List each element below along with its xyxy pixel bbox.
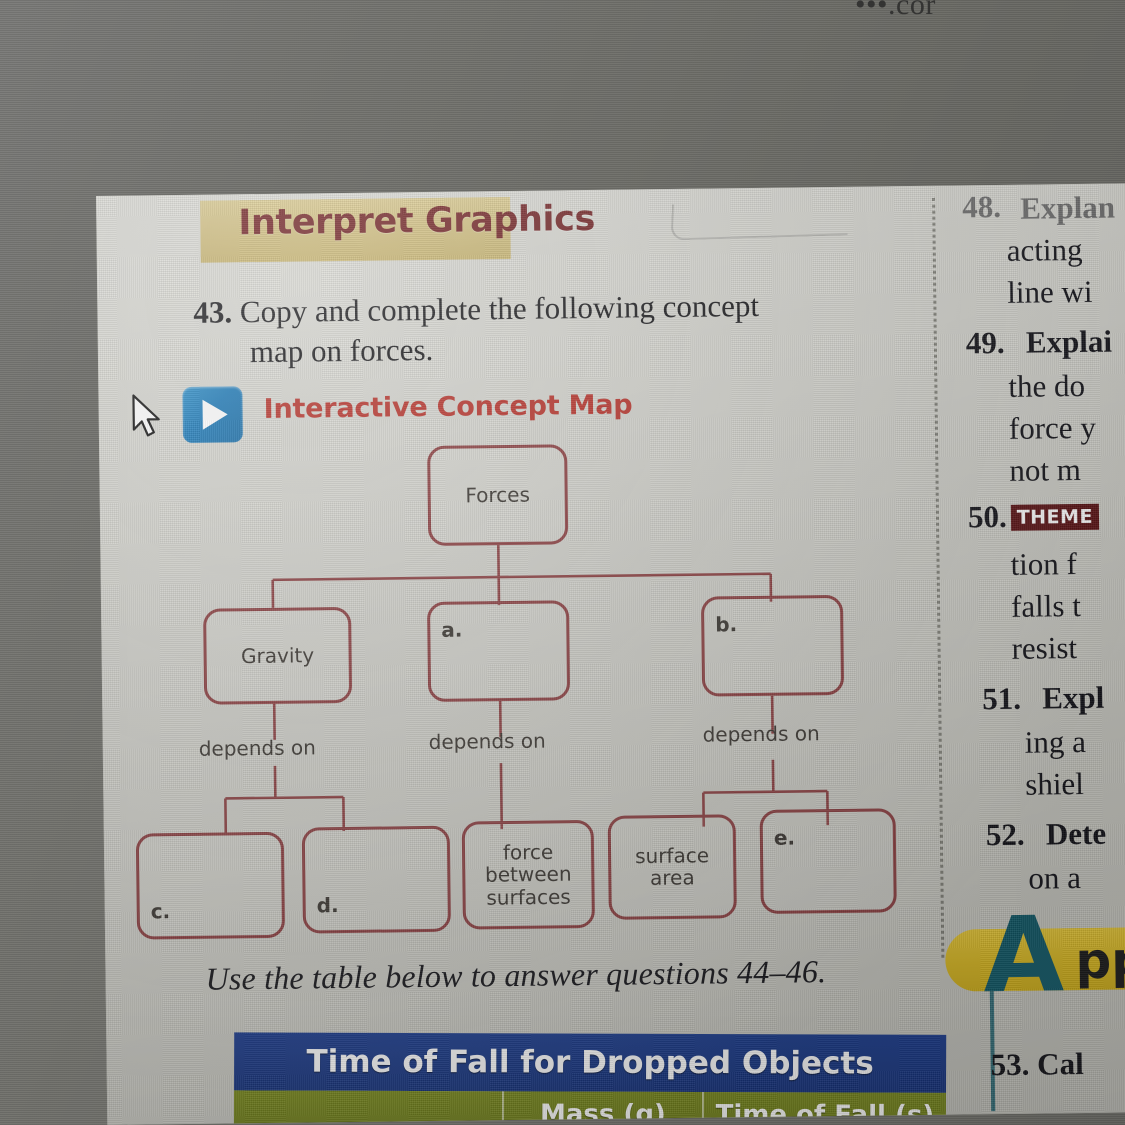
- apply-banner-text: pp: [1075, 935, 1125, 986]
- question-50-number: 50.: [968, 499, 1007, 534]
- question-53-head: Cal: [1037, 1046, 1084, 1082]
- theme-badge: THEME: [1011, 504, 1100, 531]
- question-43-number: 43.: [193, 294, 232, 329]
- question-49-number: 49.: [966, 327, 1005, 358]
- question-43-line2: map on forces.: [250, 325, 834, 372]
- question-43: 43. Copy and complete the following conc…: [193, 285, 834, 372]
- concept-node-e[interactable]: e.: [760, 808, 897, 914]
- play-triangle-icon: [202, 399, 227, 429]
- question-48-head: Explan: [1020, 192, 1115, 224]
- question-50-line-3: falls t: [1011, 590, 1081, 622]
- table-intro-text: Use the table below to answer questions …: [205, 952, 905, 998]
- question-53-number: 53.: [990, 1047, 1029, 1082]
- question-51-line-3: shiel: [1025, 768, 1084, 800]
- question-52-number: 52.: [986, 819, 1025, 850]
- question-51-head: Expl: [1042, 682, 1104, 714]
- section-heading: Interpret Graphics: [238, 199, 595, 243]
- interactive-concept-map-link[interactable]: Interactive Concept Map: [263, 389, 632, 425]
- concept-node-forces[interactable]: Forces: [427, 444, 568, 546]
- question-48-line-3: line wi: [1007, 276, 1093, 308]
- question-43-line1: Copy and complete the following concept: [240, 288, 760, 329]
- table-title: Time of Fall for Dropped Objects: [234, 1032, 946, 1092]
- right-column: 48. Explan acting line wi 49. Explai the…: [958, 183, 1125, 1114]
- question-53-row: 53. Cal: [990, 1046, 1083, 1083]
- apply-letter-a: A: [983, 902, 1061, 1007]
- concept-node-surface-area[interactable]: surface area: [608, 814, 737, 920]
- question-50-row: 50.THEME: [968, 500, 1099, 533]
- question-52-line-2: on a: [1028, 862, 1081, 894]
- question-48-number: 48.: [962, 191, 1001, 222]
- connector-label-a: depends on: [429, 729, 546, 754]
- table-col-header-1: [234, 1090, 504, 1125]
- time-of-fall-table: Time of Fall for Dropped Objects Mass (g…: [234, 1032, 946, 1125]
- concept-node-b[interactable]: b.: [701, 595, 844, 697]
- question-50-line-2: tion f: [1010, 548, 1077, 580]
- concept-node-a[interactable]: a.: [427, 600, 570, 702]
- page-fold-artifact: [671, 199, 850, 240]
- question-49-line-2: the do: [1008, 370, 1085, 402]
- textbook-page: Interpret Graphics 43. Copy and complete…: [96, 183, 1125, 1125]
- connector-label-b: depends on: [702, 721, 819, 746]
- question-51-line-2: ing a: [1025, 726, 1086, 758]
- play-button[interactable]: [182, 386, 243, 443]
- question-49-line-4: not m: [1009, 454, 1081, 486]
- question-49-line-3: force y: [1009, 412, 1096, 444]
- connector-label-gravity: depends on: [199, 735, 316, 760]
- partial-url-text: •••.cor: [855, 0, 936, 22]
- question-49-head: Explai: [1026, 326, 1113, 358]
- mouse-cursor-icon: [130, 393, 165, 439]
- left-column: Interpret Graphics 43. Copy and complete…: [96, 186, 907, 1125]
- question-48-line-2: acting: [1007, 234, 1083, 266]
- concept-node-force-between-surfaces[interactable]: force between surfaces: [462, 820, 595, 930]
- concept-node-gravity[interactable]: Gravity: [203, 607, 352, 705]
- concept-node-c[interactable]: c.: [136, 832, 285, 940]
- question-52-head: Dete: [1046, 818, 1107, 850]
- column-divider: [932, 198, 944, 958]
- question-50-line-4: resist: [1011, 632, 1077, 664]
- concept-map: Forces Gravity a. b. depends on depends …: [159, 432, 905, 941]
- concept-node-d[interactable]: d.: [302, 826, 451, 934]
- question-51-number: 51.: [982, 683, 1021, 714]
- page-content: Interpret Graphics 43. Copy and complete…: [96, 183, 1125, 1125]
